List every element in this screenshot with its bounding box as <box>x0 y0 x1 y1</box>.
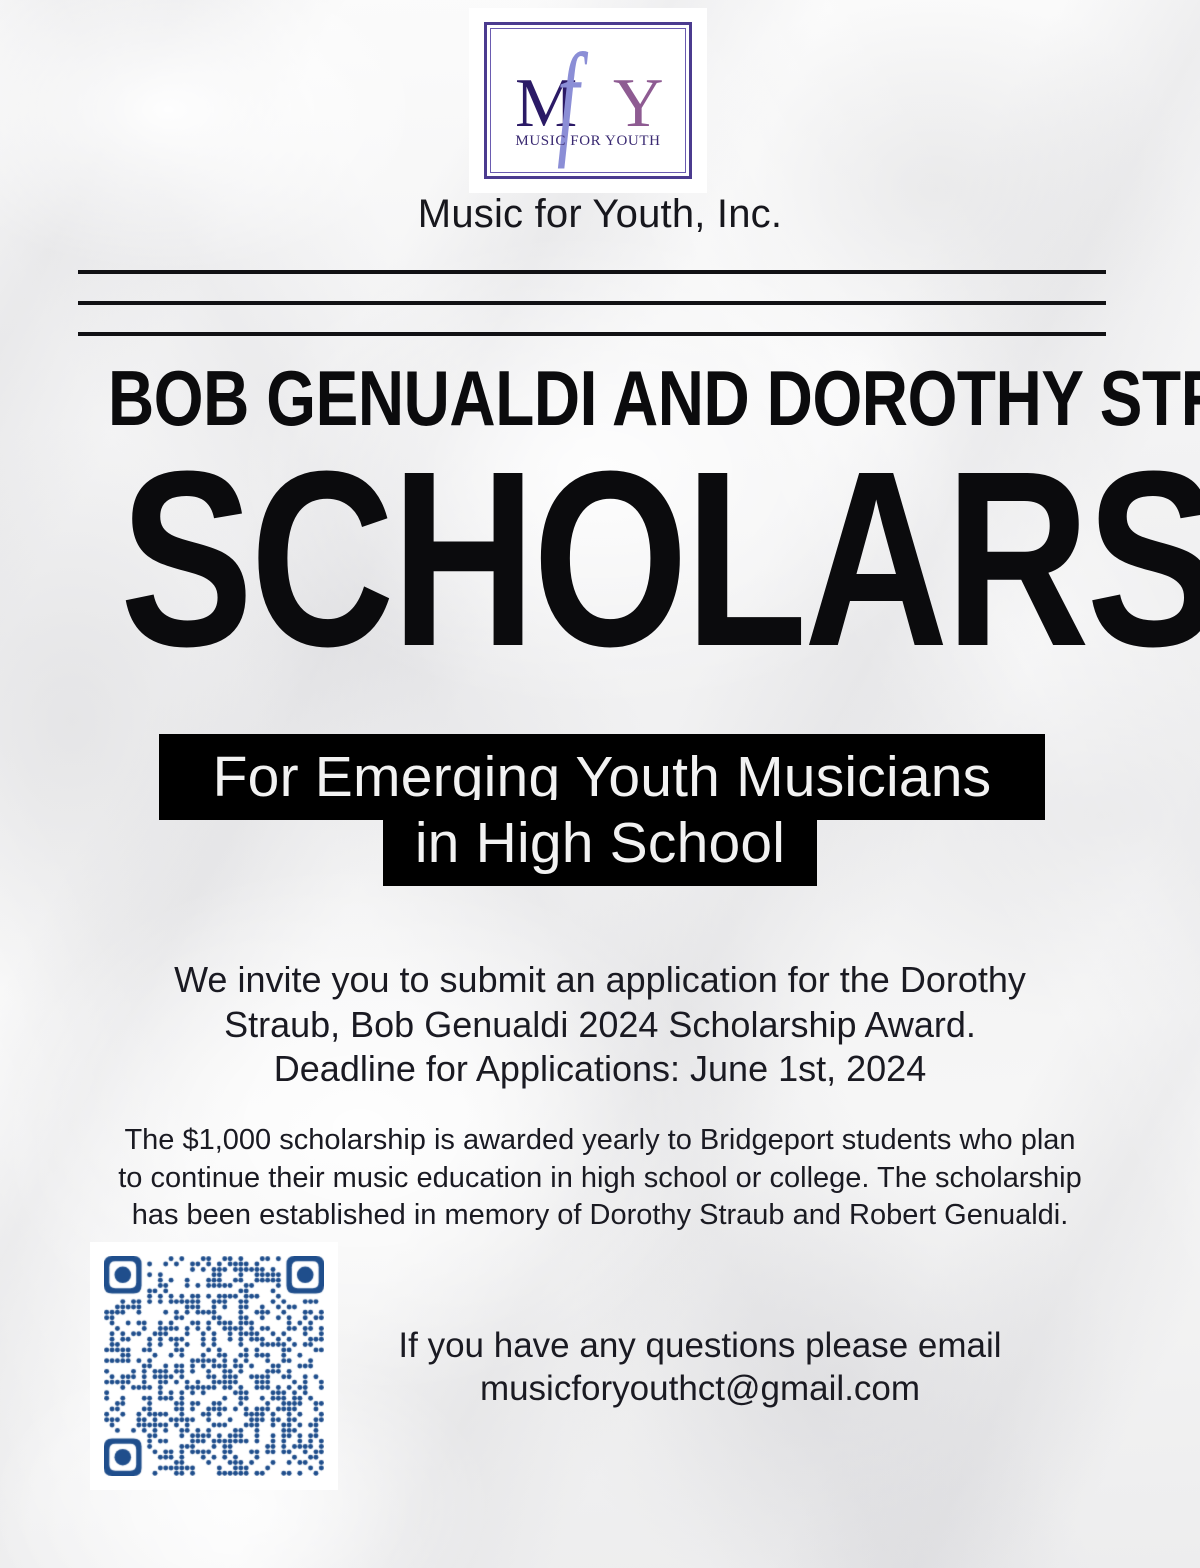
logo-frame-inner: M f Y MUSIC FOR YOUTH <box>490 28 686 173</box>
application-qr-code[interactable] <box>90 1242 338 1490</box>
staff-rule-2 <box>78 301 1106 305</box>
staff-rule-1 <box>78 270 1106 274</box>
details-line-1: The $1,000 scholarship is awarded yearly… <box>70 1122 1130 1160</box>
scholarship-poster: M f Y MUSIC FOR YOUTH Music for Youth, I… <box>0 0 1200 1568</box>
page-title: SCHOLARSHIP <box>120 444 1080 674</box>
qr-code-image[interactable] <box>104 1256 324 1476</box>
contact-email[interactable]: musicforyouthct@gmail.com <box>355 1368 1045 1411</box>
logo-tagline: MUSIC FOR YOUTH <box>491 133 685 150</box>
invite-line-2: Straub, Bob Genualdi 2024 Scholarship Aw… <box>100 1003 1100 1048</box>
staff-rule-3 <box>78 332 1106 336</box>
logo-frame-outer: M f Y MUSIC FOR YOUTH <box>484 22 692 179</box>
organization-name: Music for Youth, Inc. <box>0 192 1200 237</box>
deadline-line: Deadline for Applications: June 1st, 202… <box>100 1047 1100 1092</box>
details-line-2: to continue their music education in hig… <box>70 1160 1130 1198</box>
contact-prompt: If you have any questions please email <box>355 1325 1045 1368</box>
subtitle-bar-line-2: in High School <box>383 800 817 886</box>
scholarship-details-paragraph: The $1,000 scholarship is awarded yearly… <box>70 1122 1130 1235</box>
invitation-paragraph: We invite you to submit an application f… <box>100 958 1100 1092</box>
details-line-3: has been established in memory of Doroth… <box>70 1197 1130 1235</box>
staff-rules <box>78 270 1106 336</box>
music-for-youth-logo: M f Y MUSIC FOR YOUTH <box>469 8 707 193</box>
contact-block: If you have any questions please email m… <box>355 1325 1045 1410</box>
logo-letter-y: Y <box>613 69 664 139</box>
invite-line-1: We invite you to submit an application f… <box>100 958 1100 1003</box>
